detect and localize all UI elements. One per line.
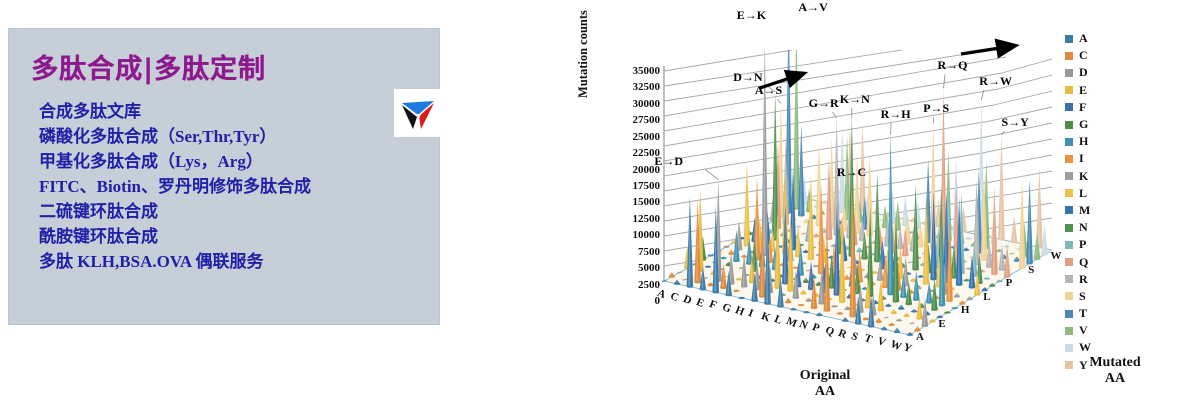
promo-line: 甲基化多肽合成（Lys，Arg） <box>39 149 434 174</box>
legend-swatch-icon <box>1065 275 1073 283</box>
legend-item-V[interactable]: V <box>1065 322 1125 339</box>
legend-label: P <box>1079 237 1086 252</box>
legend-swatch-icon <box>1065 52 1073 60</box>
y-axis-tick-labels: 3500032500300002750025000225002000017500… <box>604 66 660 307</box>
legend-swatch-icon <box>1065 172 1073 180</box>
legend-label: M <box>1079 203 1090 218</box>
peak-label-S→Y: S→Y <box>1001 115 1028 130</box>
y-tick-label: 27500 <box>633 115 661 125</box>
y-tick-label: 5000 <box>638 263 660 273</box>
legend-label: W <box>1079 340 1091 355</box>
mutated-aa-tick-P: P <box>1006 277 1013 289</box>
mutated-aa-tick-L: L <box>983 291 990 303</box>
legend-label: G <box>1079 117 1088 132</box>
peak-label-R→W: R→W <box>979 74 1012 89</box>
legend-item-L[interactable]: L <box>1065 185 1125 202</box>
legend-item-K[interactable]: K <box>1065 168 1125 185</box>
legend-label: Q <box>1079 255 1088 270</box>
legend-swatch-icon <box>1065 206 1073 214</box>
promo-panel: 多肽合成|多肽定制 合成多肽文库磷酸化多肽合成（Ser,Thr,Tyr）甲基化多… <box>8 28 440 325</box>
mutated-aa-tick-W: W <box>1051 250 1062 262</box>
legend-swatch-icon <box>1065 103 1073 111</box>
peak-label-A→S: A→S <box>755 83 782 98</box>
promo-line: FITC、Biotin、罗丹明修饰多肽合成 <box>39 174 434 199</box>
legend-label: E <box>1079 83 1087 98</box>
promo-line: 二硫键环肽合成 <box>39 199 434 224</box>
legend-label: C <box>1079 48 1088 63</box>
legend-swatch-icon <box>1065 310 1073 318</box>
legend-item-Q[interactable]: Q <box>1065 253 1125 270</box>
legend-label: A <box>1079 31 1088 46</box>
legend-item-D[interactable]: D <box>1065 64 1125 81</box>
promo-line: 磷酸化多肽合成（Ser,Thr,Tyr） <box>39 124 434 149</box>
legend-swatch-icon <box>1065 258 1073 266</box>
legend-item-Y[interactable]: Y <box>1065 357 1125 374</box>
original-aa-caption-line2: AA <box>770 384 880 400</box>
legend-label: T <box>1079 306 1087 321</box>
mutated-aa-tick-A: A <box>916 331 924 343</box>
legend-label: H <box>1079 134 1088 149</box>
legend-swatch-icon <box>1065 327 1073 335</box>
y-tick-label: 30000 <box>633 99 661 109</box>
peak-label-P→S: P→S <box>923 101 949 116</box>
y-axis-title: Mutation counts <box>576 0 591 114</box>
peak-label-K→N: K→N <box>840 92 870 107</box>
legend-swatch-icon <box>1065 241 1073 249</box>
legend-swatch-icon <box>1065 86 1073 94</box>
legend-swatch-icon <box>1065 224 1073 232</box>
promo-line: 合成多肽文库 <box>39 99 434 124</box>
y-tick-label: 10000 <box>633 230 661 240</box>
legend-item-N[interactable]: N <box>1065 219 1125 236</box>
y-tick-label: 35000 <box>633 66 661 76</box>
legend-item-M[interactable]: M <box>1065 202 1125 219</box>
y-tick-label: 32500 <box>633 82 661 92</box>
mutated-aa-tick-S: S <box>1028 264 1034 276</box>
y-tick-label: 12500 <box>633 214 661 224</box>
legend-swatch-icon <box>1065 292 1073 300</box>
peak-label-G→R: G→R <box>809 96 839 111</box>
legend-label: Y <box>1079 358 1088 373</box>
peak-label-E→K: E→K <box>737 8 766 23</box>
original-aa-caption-line1: Original <box>770 368 880 384</box>
legend-item-S[interactable]: S <box>1065 288 1125 305</box>
legend-item-I[interactable]: I <box>1065 150 1125 167</box>
trend-arrow-right-overlay <box>955 36 1055 66</box>
legend-swatch-icon <box>1065 189 1073 197</box>
legend-swatch-icon <box>1065 35 1073 43</box>
peak-label-A→V: A→V <box>798 0 827 15</box>
legend-label: K <box>1079 169 1088 184</box>
promo-line: 酰胺键环肽合成 <box>39 224 434 249</box>
legend-item-A[interactable]: A <box>1065 30 1125 47</box>
original-aa-caption: OriginalAA <box>770 368 880 400</box>
original-aa-tick-Y: Y <box>902 341 914 355</box>
legend-label: R <box>1079 272 1088 287</box>
promo-title: 多肽合成|多肽定制 <box>31 47 266 86</box>
mutated-aa-tick-H: H <box>961 304 970 316</box>
legend-item-T[interactable]: T <box>1065 305 1125 322</box>
legend-swatch-icon <box>1065 361 1073 369</box>
y-tick-label: 2500 <box>638 280 660 290</box>
legend-item-E[interactable]: E <box>1065 82 1125 99</box>
legend-item-F[interactable]: F <box>1065 99 1125 116</box>
legend-swatch-icon <box>1065 344 1073 352</box>
peak-label-E→D: E→D <box>654 154 683 169</box>
legend-swatch-icon <box>1065 121 1073 129</box>
legend-item-G[interactable]: G <box>1065 116 1125 133</box>
legend-label: F <box>1079 100 1086 115</box>
legend-label: D <box>1079 65 1088 80</box>
legend-item-H[interactable]: H <box>1065 133 1125 150</box>
peak-label-R→H: R→H <box>881 107 911 122</box>
legend-item-P[interactable]: P <box>1065 236 1125 253</box>
promo-service-list: 合成多肽文库磷酸化多肽合成（Ser,Thr,Tyr）甲基化多肽合成（Lys，Ar… <box>39 99 434 274</box>
legend-label: S <box>1079 289 1086 304</box>
legend-label: V <box>1079 323 1088 338</box>
legend-swatch-icon <box>1065 155 1073 163</box>
legend-label: L <box>1079 186 1087 201</box>
legend-swatch-icon <box>1065 138 1073 146</box>
plot-area: ACDEFGHIKLMNPQRSTVWY AEHLPSW E→DE→KA→TA→… <box>662 50 1052 340</box>
legend-item-C[interactable]: C <box>1065 47 1125 64</box>
y-tick-label: 7500 <box>638 247 660 257</box>
y-tick-label: 25000 <box>633 132 661 142</box>
promo-line: 多肽 KLH,BSA.OVA 偶联服务 <box>39 249 434 274</box>
mutated-aa-tick-E: E <box>938 318 945 330</box>
peak-label-R→C: R→C <box>837 165 866 180</box>
y-tick-label: 15000 <box>633 197 661 207</box>
legend-swatch-icon <box>1065 69 1073 77</box>
legend-item-R[interactable]: R <box>1065 271 1125 288</box>
legend-label: N <box>1079 220 1088 235</box>
series-legend: ACDEFGHIKLMNPQRSTVWY <box>1065 30 1125 374</box>
legend-label: I <box>1079 151 1084 166</box>
legend-item-W[interactable]: W <box>1065 339 1125 356</box>
y-tick-label: 17500 <box>633 181 661 191</box>
